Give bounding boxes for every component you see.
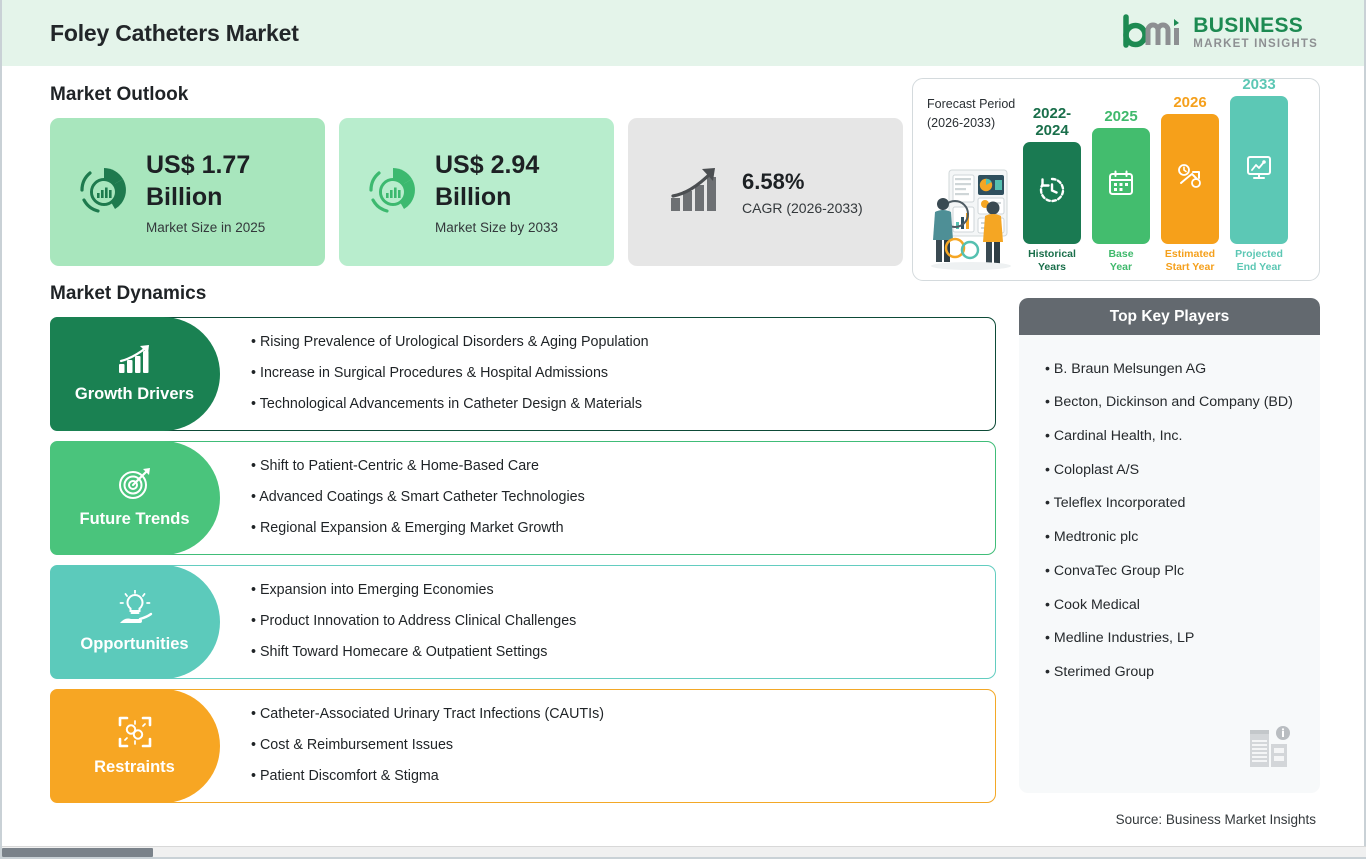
key-player-item: Cardinal Health, Inc.: [1045, 419, 1298, 453]
cagr-caption: CAGR (2026-2033): [742, 200, 863, 216]
key-player-item: Coloplast A/S: [1045, 453, 1298, 487]
infographic-page: Foley Catheters Market BUSINESS MARKET I…: [0, 0, 1366, 859]
top-key-players-list: B. Braun Melsungen AG Becton, Dickinson …: [1019, 335, 1320, 689]
bar-chart-arrow-icon: [116, 344, 154, 381]
clock-history-icon: [1037, 175, 1067, 210]
caption-line1: Projected: [1230, 248, 1288, 261]
team-analytics-illustration: [925, 164, 1017, 277]
market-size-2025-value: US$ 1.77: [146, 149, 265, 181]
forecast-period-line1: Forecast Period: [927, 95, 1015, 114]
caption-line2: End Year: [1230, 261, 1288, 274]
forecast-bar-base-rect: [1092, 128, 1150, 244]
forecast-period-panel: Forecast Period (2026-2033): [912, 78, 1320, 281]
forecast-period-line2: (2026-2033): [927, 114, 1015, 133]
donut-bar-chart-icon: [365, 162, 421, 223]
forecast-bar-estimated: 2026 Estimated Start Year: [1161, 94, 1219, 274]
restraint-brackets-icon: [117, 715, 153, 754]
dynamics-pill-future-trends: Future Trends: [50, 441, 220, 555]
forecast-bar-base-year: 2025: [1092, 108, 1150, 125]
key-player-item: ConvaTec Group Plc: [1045, 554, 1298, 588]
dynamics-item: Technological Advancements in Catheter D…: [251, 389, 649, 420]
target-dart-icon: [117, 467, 153, 506]
caption-line2: Start Year: [1161, 261, 1219, 274]
forecast-period-label: Forecast Period (2026-2033): [927, 95, 1015, 134]
market-size-2033-value: US$ 2.94: [435, 149, 558, 181]
market-size-2033-caption: Market Size by 2033: [435, 220, 558, 235]
dynamics-item: Regional Expansion & Emerging Market Gro…: [251, 513, 585, 544]
forecast-bar-estimated-caption: Estimated Start Year: [1161, 248, 1219, 274]
forecast-bar-chart: 2022-2024 Historical Years 2: [1023, 78, 1319, 280]
dynamics-item: Increase in Surgical Procedures & Hospit…: [251, 359, 649, 390]
dynamics-item: Shift Toward Homecare & Outpatient Setti…: [251, 637, 576, 668]
forecast-bar-historical-year: 2022-2024: [1023, 105, 1081, 139]
caption-line2: Years: [1023, 261, 1081, 274]
dynamics-row-future-trends: Future Trends Shift to Patient-Centric &…: [50, 441, 996, 555]
cagr-value: 6.58%: [742, 168, 863, 196]
forecast-bar-base: 2025: [1092, 108, 1150, 274]
horizontal-scrollbar-thumb[interactable]: [2, 848, 153, 857]
forecast-bar-projected-caption: Projected End Year: [1230, 248, 1288, 274]
dynamics-label-future-trends: Future Trends: [79, 510, 189, 529]
forecast-bar-estimated-year: 2026: [1161, 94, 1219, 111]
dynamics-items-restraints: Catheter-Associated Urinary Tract Infect…: [251, 690, 604, 802]
bmi-logo-icon: [1122, 14, 1184, 53]
dynamics-item: Catheter-Associated Urinary Tract Infect…: [251, 700, 604, 731]
key-player-item: Teleflex Incorporated: [1045, 487, 1298, 521]
page-header: Foley Catheters Market BUSINESS MARKET I…: [2, 0, 1364, 66]
market-size-2025-unit: Billion: [146, 181, 265, 213]
market-size-2033-unit: Billion: [435, 181, 558, 213]
forecast-bar-projected: 2033 Projected End Year: [1230, 78, 1288, 274]
lightbulb-hand-icon: [116, 590, 154, 631]
top-key-players-title: Top Key Players: [1019, 298, 1320, 335]
dynamics-item: Rising Prevalence of Urological Disorder…: [251, 328, 649, 359]
dynamics-item: Product Innovation to Address Clinical C…: [251, 607, 576, 638]
page-title: Foley Catheters Market: [50, 20, 299, 47]
key-player-item: Sterimed Group: [1045, 656, 1298, 690]
caption-line2: Year: [1092, 261, 1150, 274]
forecast-bar-base-caption: Base Year: [1092, 248, 1150, 274]
dynamics-row-restraints: Restraints Catheter-Associated Urinary T…: [50, 689, 996, 803]
forecast-bar-historical: 2022-2024 Historical Years: [1023, 105, 1081, 274]
market-size-2025-card: US$ 1.77 Billion Market Size in 2025: [50, 118, 325, 266]
cagr-card: 6.58% CAGR (2026-2033): [628, 118, 903, 266]
market-dynamics-heading: Market Dynamics: [50, 283, 206, 305]
key-player-item: Medtronic plc: [1045, 521, 1298, 555]
dynamics-item: Advanced Coatings & Smart Catheter Techn…: [251, 483, 585, 514]
horizontal-scrollbar-track[interactable]: [2, 846, 1366, 857]
caption-line1: Estimated: [1161, 248, 1219, 261]
calendar-icon: [1107, 169, 1135, 202]
growth-arrow-chart-icon: [668, 164, 726, 221]
dynamics-pill-opportunities: Opportunities: [50, 565, 220, 679]
buildings-info-icon: [1248, 726, 1292, 773]
caption-line1: Historical: [1023, 248, 1081, 261]
key-player-item: B. Braun Melsungen AG: [1045, 352, 1298, 386]
dynamics-items-growth-drivers: Rising Prevalence of Urological Disorder…: [251, 318, 649, 430]
presentation-chart-icon: [1245, 153, 1273, 186]
forecast-bar-projected-rect: [1230, 96, 1288, 244]
dynamics-items-future-trends: Shift to Patient-Centric & Home-Based Ca…: [251, 442, 585, 554]
forecast-bar-historical-rect: [1023, 142, 1081, 244]
forecast-bar-estimated-rect: [1161, 114, 1219, 244]
source-text: Source: Business Market Insights: [1116, 812, 1316, 827]
top-key-players-panel: Top Key Players B. Braun Melsungen AG Be…: [1019, 298, 1320, 793]
key-player-item: Becton, Dickinson and Company (BD): [1045, 386, 1298, 420]
key-player-item: Cook Medical: [1045, 588, 1298, 622]
caption-line1: Base: [1092, 248, 1150, 261]
dynamics-item: Expansion into Emerging Economies: [251, 576, 576, 607]
key-player-item: Medline Industries, LP: [1045, 622, 1298, 656]
brand-logo: BUSINESS MARKET INSIGHTS: [1122, 14, 1318, 53]
market-dynamics-list: Growth Drivers Rising Prevalence of Urol…: [50, 317, 996, 813]
forecast-bar-projected-year: 2033: [1230, 78, 1288, 93]
donut-bar-chart-icon: [76, 162, 132, 223]
dynamics-label-growth-drivers: Growth Drivers: [75, 385, 194, 404]
dynamics-item: Cost & Reimbursement Issues: [251, 731, 604, 762]
dynamics-label-restraints: Restraints: [94, 758, 175, 777]
dynamics-pill-growth-drivers: Growth Drivers: [50, 317, 220, 431]
dynamics-row-opportunities: Opportunities Expansion into Emerging Ec…: [50, 565, 996, 679]
forecast-growth-icon: [1175, 161, 1205, 196]
dynamics-pill-restraints: Restraints: [50, 689, 220, 803]
logo-market-insights-text: MARKET INSIGHTS: [1193, 39, 1318, 51]
logo-business-text: BUSINESS: [1193, 15, 1318, 36]
market-size-2033-card: US$ 2.94 Billion Market Size by 2033: [339, 118, 614, 266]
dynamics-row-growth-drivers: Growth Drivers Rising Prevalence of Urol…: [50, 317, 996, 431]
dynamics-items-opportunities: Expansion into Emerging Economies Produc…: [251, 566, 576, 678]
market-size-2025-caption: Market Size in 2025: [146, 220, 265, 235]
forecast-bar-historical-caption: Historical Years: [1023, 248, 1081, 274]
market-outlook-cards: US$ 1.77 Billion Market Size in 2025: [50, 118, 903, 266]
dynamics-item: Shift to Patient-Centric & Home-Based Ca…: [251, 452, 585, 483]
market-outlook-heading: Market Outlook: [50, 84, 188, 106]
dynamics-item: Patient Discomfort & Stigma: [251, 761, 604, 792]
dynamics-label-opportunities: Opportunities: [80, 635, 188, 654]
